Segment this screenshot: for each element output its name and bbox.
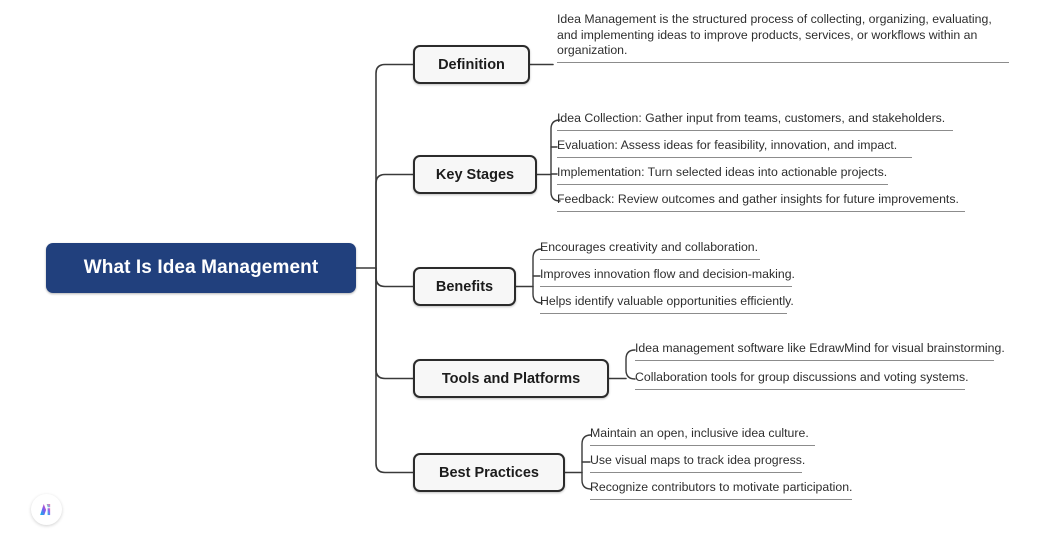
- branch-node-best-practices[interactable]: Best Practices: [413, 453, 565, 492]
- leaf-item[interactable]: Encourages creativity and collaboration.: [540, 240, 760, 260]
- root-node[interactable]: What Is Idea Management: [46, 243, 356, 293]
- leaf-item-text: Encourages creativity and collaboration.: [540, 240, 760, 256]
- leaf-item-text: Implementation: Turn selected ideas into…: [557, 165, 888, 181]
- branch-node-key-stages[interactable]: Key Stages: [413, 155, 537, 194]
- leaf-item[interactable]: Collaboration tools for group discussion…: [635, 370, 965, 390]
- leaf-item[interactable]: Idea Management is the structured proces…: [557, 12, 1009, 63]
- mindmap-canvas: What Is Idea Management DefinitionIdea M…: [0, 0, 1050, 533]
- leaf-item-text: Maintain an open, inclusive idea culture…: [590, 426, 815, 442]
- leaf-item[interactable]: Recognize contributors to motivate parti…: [590, 480, 852, 500]
- leaf-item-text: Idea Collection: Gather input from teams…: [557, 111, 953, 127]
- branch-node-tools-and-platforms[interactable]: Tools and Platforms: [413, 359, 609, 398]
- leaf-item[interactable]: Maintain an open, inclusive idea culture…: [590, 426, 815, 446]
- leaf-item[interactable]: Evaluation: Assess ideas for feasibility…: [557, 138, 912, 158]
- leaf-item-text: Evaluation: Assess ideas for feasibility…: [557, 138, 912, 154]
- branch-node-label: Definition: [438, 57, 505, 73]
- leaf-item-text: Recognize contributors to motivate parti…: [590, 480, 852, 496]
- branch-node-label: Key Stages: [436, 167, 514, 183]
- leaf-item[interactable]: Implementation: Turn selected ideas into…: [557, 165, 888, 185]
- branch-node-benefits[interactable]: Benefits: [413, 267, 516, 306]
- leaf-item[interactable]: Use visual maps to track idea progress.: [590, 453, 802, 473]
- leaf-item[interactable]: Idea management software like EdrawMind …: [635, 341, 994, 361]
- leaf-item-text: Improves innovation flow and decision-ma…: [540, 267, 792, 283]
- leaf-item-text: Feedback: Review outcomes and gather ins…: [557, 192, 965, 208]
- leaf-item[interactable]: Feedback: Review outcomes and gather ins…: [557, 192, 965, 212]
- branch-node-label: Best Practices: [439, 465, 539, 481]
- branch-node-label: Benefits: [436, 279, 493, 295]
- leaf-item-text: Collaboration tools for group discussion…: [635, 370, 965, 386]
- logo-mark-icon: [37, 500, 56, 519]
- leaf-item-text: Use visual maps to track idea progress.: [590, 453, 802, 469]
- leaf-item[interactable]: Idea Collection: Gather input from teams…: [557, 111, 953, 131]
- leaf-item[interactable]: Helps identify valuable opportunities ef…: [540, 294, 787, 314]
- branch-node-label: Tools and Platforms: [442, 371, 580, 387]
- root-node-label: What Is Idea Management: [84, 257, 319, 279]
- edrawmind-logo: [31, 494, 62, 525]
- leaf-item-text: Idea management software like EdrawMind …: [635, 341, 994, 357]
- leaf-item[interactable]: Improves innovation flow and decision-ma…: [540, 267, 792, 287]
- leaf-item-text: Idea Management is the structured proces…: [557, 12, 1009, 59]
- leaf-item-text: Helps identify valuable opportunities ef…: [540, 294, 787, 310]
- branch-node-definition[interactable]: Definition: [413, 45, 530, 84]
